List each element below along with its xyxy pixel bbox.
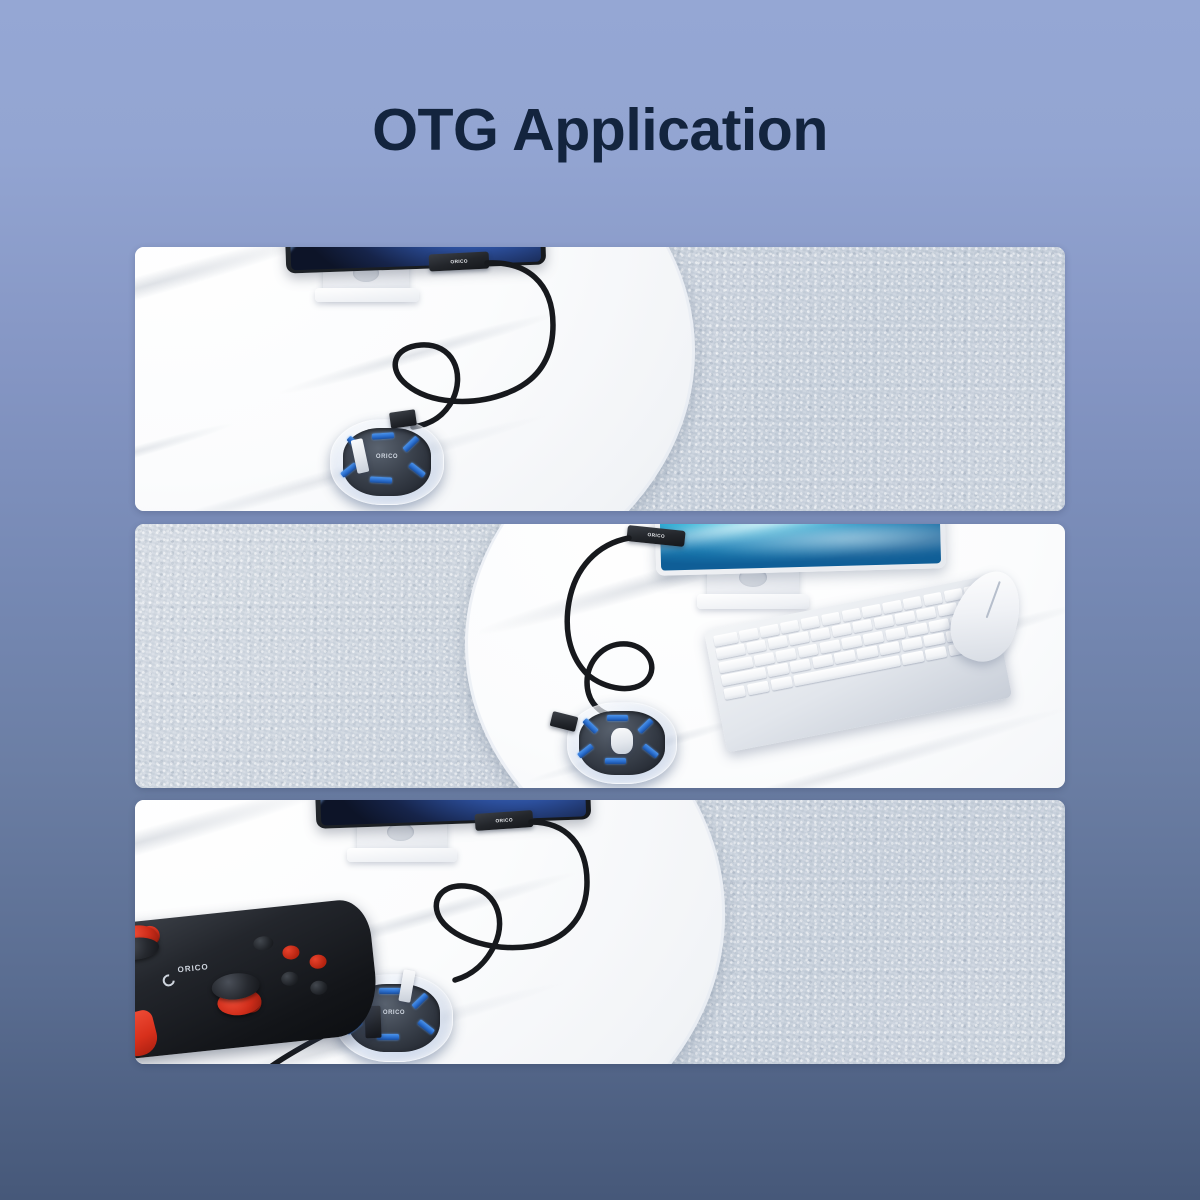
usb-hub: ORICO xyxy=(567,702,677,784)
flash-drive xyxy=(611,728,633,754)
hub-brand-label: ORICO xyxy=(376,454,398,460)
hub-brand-label: ORICO xyxy=(383,1010,405,1016)
usb-port xyxy=(605,758,626,764)
panel-2: ORICO ORICO xyxy=(135,524,1065,788)
page-title: OTG Application xyxy=(0,101,1200,160)
panel-3: ORICO ORICO ORICO xyxy=(135,800,1065,1064)
usb-port xyxy=(379,988,401,994)
usb-hub: ORICO xyxy=(330,419,444,505)
usb-port xyxy=(607,715,628,721)
panel-1: ORICO ORICO Connect Mouse to Tablet Easy… xyxy=(135,247,1065,511)
usb-port xyxy=(370,476,392,483)
usb-cable xyxy=(135,247,1065,511)
